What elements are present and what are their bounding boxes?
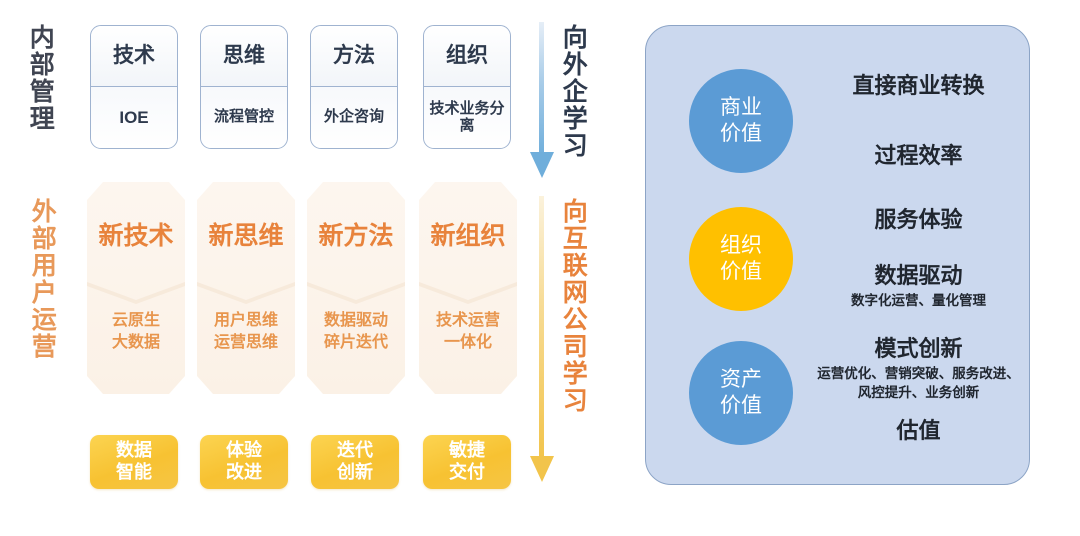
top-card-4[interactable]: 组织 技术业务分离 [423,25,511,149]
internal-management-label: 内部管理 [27,24,53,152]
hex-card-1[interactable]: 新技术 云原生大数据 [87,182,185,394]
outcome-box-2[interactable]: 体验改进 [200,435,288,489]
hex-card-2[interactable]: 新思维 用户思维运营思维 [197,182,295,394]
hex-card-4[interactable]: 新组织 技术运营一体化 [419,182,517,394]
value-item-5: 模式创新 运营优化、营销突破、服务改进、风控提升、业务创新 [816,336,1021,402]
value-item-2-main: 过程效率 [816,143,1021,169]
top-card-2-subtitle: 流程管控 [201,87,287,148]
hex-card-1-subtitle: 云原生大数据 [87,310,185,353]
organization-value-circle[interactable]: 组织价值 [689,207,793,311]
value-item-1-main: 直接商业转换 [816,73,1021,99]
hex-card-2-shape [197,182,295,394]
hex-card-1-shape [87,182,185,394]
hex-card-3[interactable]: 新方法 数据驱动碎片迭代 [307,182,405,394]
top-card-3-title: 方法 [311,26,397,87]
asset-value-circle[interactable]: 资产价值 [689,341,793,445]
value-item-5-sub: 运营优化、营销突破、服务改进、风控提升、业务创新 [816,365,1021,401]
hex-card-1-title: 新技术 [87,216,185,252]
top-card-3[interactable]: 方法 外企咨询 [310,25,398,149]
outcome-box-3[interactable]: 迭代创新 [311,435,399,489]
value-item-3-main: 服务体验 [816,207,1021,233]
hex-card-4-subtitle: 技术运营一体化 [419,310,517,353]
diagram-canvas: 内部管理 外部用户运营 技术 IOE 思维 流程管控 方法 外企咨询 组织 技术… [0,0,1080,536]
value-item-6: 估值 [816,418,1021,444]
value-item-1: 直接商业转换 [816,73,1021,99]
top-card-1-subtitle: IOE [91,87,177,148]
top-card-2-title: 思维 [201,26,287,87]
top-card-4-title: 组织 [424,26,510,87]
value-item-4-main: 数据驱动 [816,263,1021,289]
learn-from-foreign-enterprise-label: 向外企学习 [560,24,586,174]
learn-from-internet-company-label: 向互联网公司学习 [560,198,586,428]
hex-card-3-shape [307,182,405,394]
outcome-box-4[interactable]: 敏捷交付 [423,435,511,489]
value-item-3: 服务体验 [816,207,1021,233]
hex-card-2-title: 新思维 [197,216,295,252]
value-item-6-main: 估值 [816,418,1021,444]
top-card-2[interactable]: 思维 流程管控 [200,25,288,149]
value-item-2: 过程效率 [816,143,1021,169]
value-panel: 商业价值 组织价值 资产价值 直接商业转换 过程效率 服务体验 数据驱动 数字化… [645,25,1030,485]
top-card-1[interactable]: 技术 IOE [90,25,178,149]
top-card-3-subtitle: 外企咨询 [311,87,397,148]
hex-card-4-title: 新组织 [419,216,517,252]
external-user-operation-label: 外部用户运营 [29,198,55,390]
blue-down-arrow-icon [525,22,559,180]
hex-card-4-shape [419,182,517,394]
value-item-5-main: 模式创新 [816,336,1021,362]
value-item-4: 数据驱动 数字化运营、量化管理 [816,263,1021,311]
business-value-circle[interactable]: 商业价值 [689,69,793,173]
hex-card-3-title: 新方法 [307,216,405,252]
hex-card-3-subtitle: 数据驱动碎片迭代 [307,310,405,353]
hex-card-2-subtitle: 用户思维运营思维 [197,310,295,353]
value-item-4-sub: 数字化运营、量化管理 [816,292,1021,310]
orange-down-arrow-icon [525,196,559,484]
top-card-4-subtitle: 技术业务分离 [424,87,510,148]
top-card-1-title: 技术 [91,26,177,87]
outcome-box-1[interactable]: 数据智能 [90,435,178,489]
